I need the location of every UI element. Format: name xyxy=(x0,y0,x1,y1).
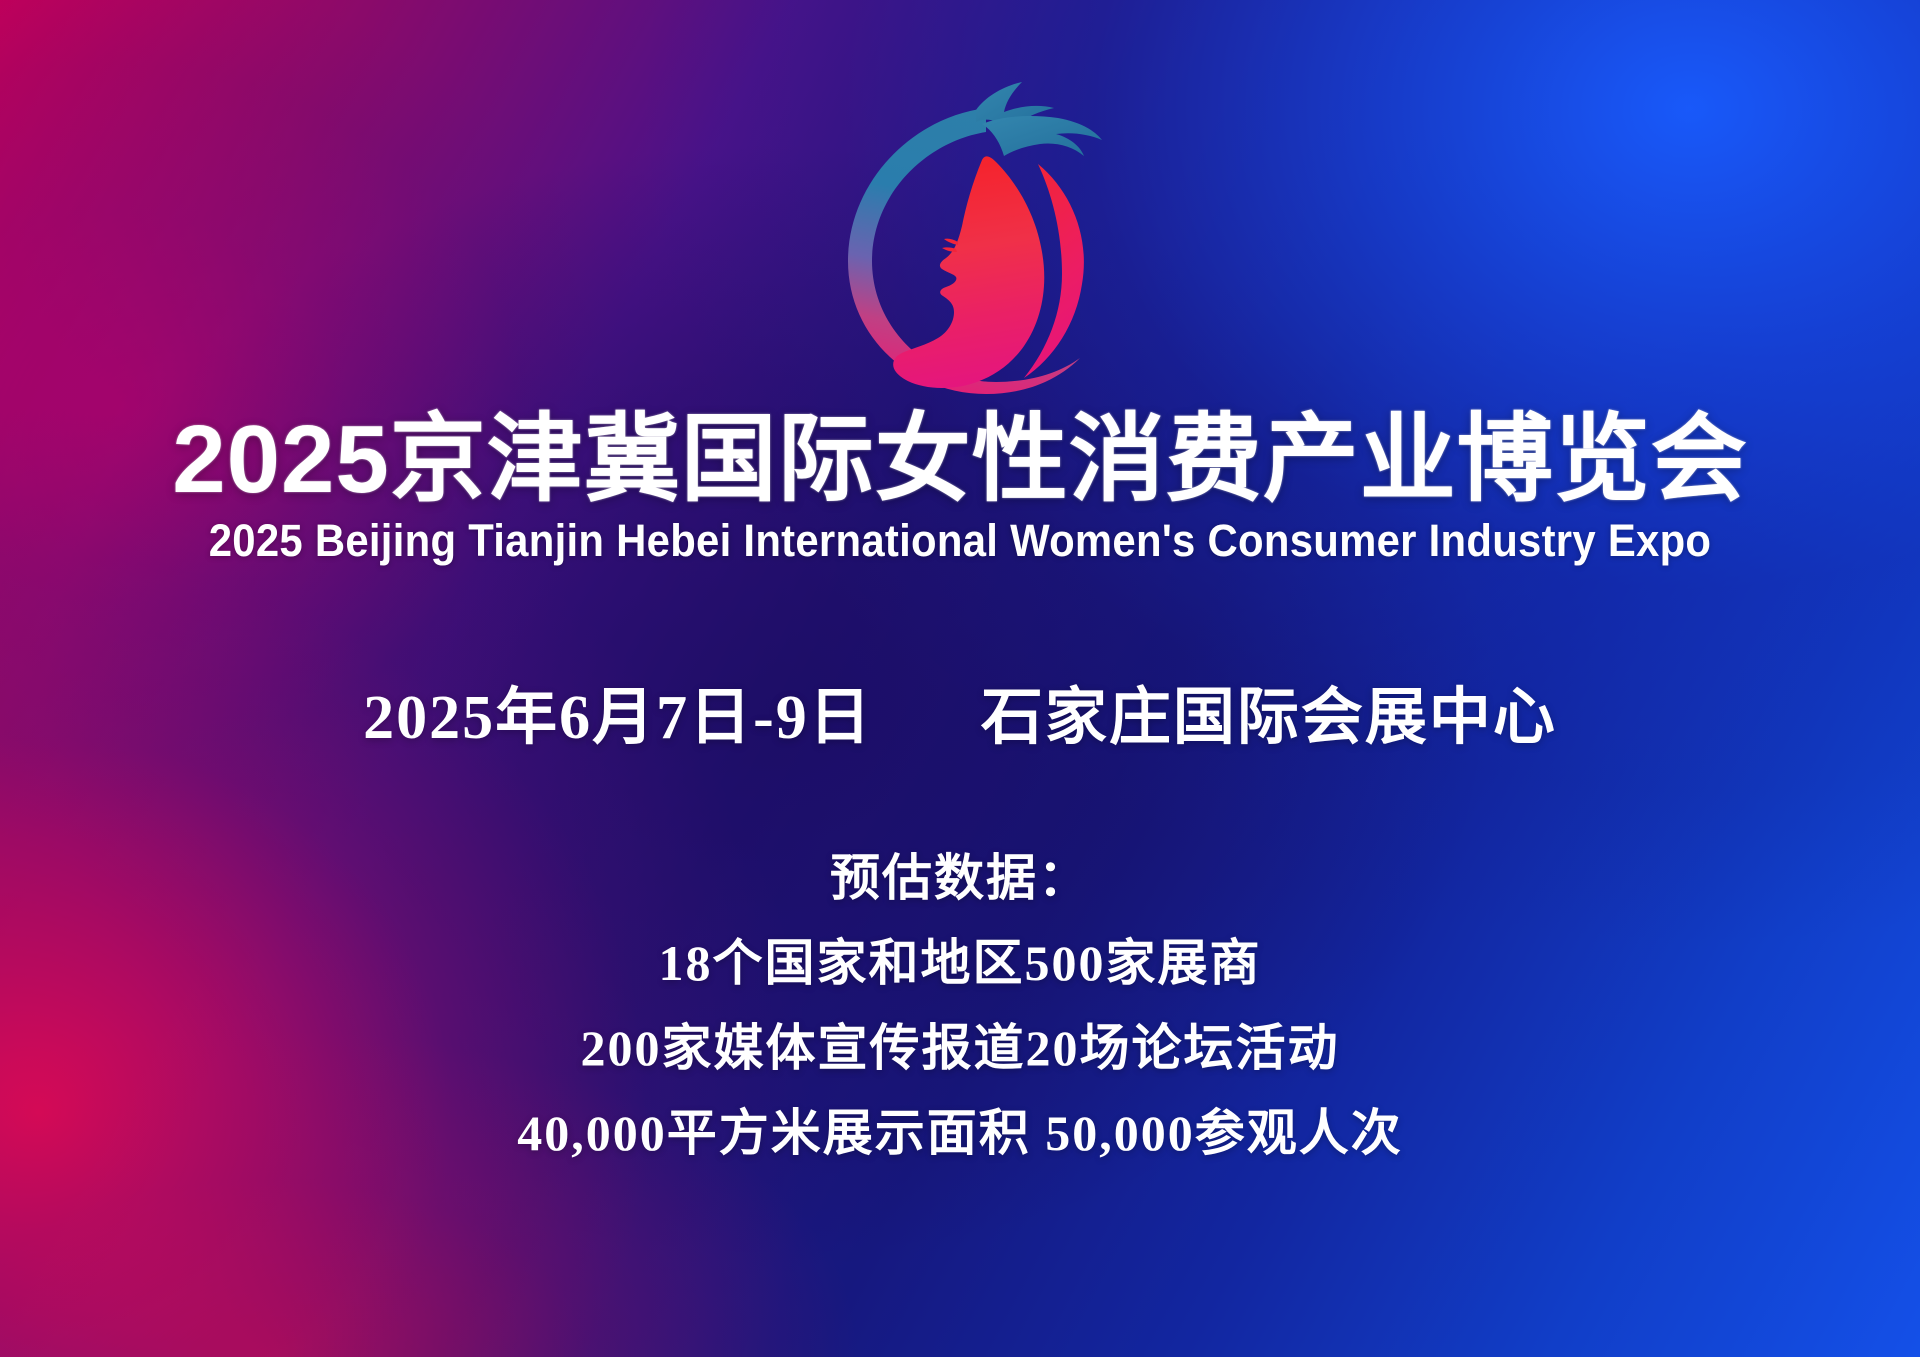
stat-line-media-forums: 200家媒体宣传报道20场论坛活动 xyxy=(0,1023,1920,1073)
stat-line-exhibitors: 18个国家和地区500家展商 xyxy=(0,938,1920,988)
page-title-english: 2025 Beijing Tianjin Hebei International… xyxy=(67,515,1853,567)
event-date: 2025年6月7日-9日 xyxy=(363,687,873,749)
title-block: 2025京津冀国际女性消费产业博览会 2025 Beijing Tianjin … xyxy=(0,411,1920,567)
logo-woman-profile xyxy=(893,156,1044,388)
expo-logo xyxy=(790,56,1130,401)
estimated-data-heading: 预估数据： xyxy=(0,853,1920,903)
logo-eyelash-upper xyxy=(944,239,958,245)
logo-dragon-snout xyxy=(982,116,1102,156)
event-venue: 石家庄国际会展中心 xyxy=(981,687,1557,749)
stat-line-area-visitors: 40,000平方米展示面积 50,000参观人次 xyxy=(0,1108,1920,1158)
poster-content: 2025京津冀国际女性消费产业博览会 2025 Beijing Tianjin … xyxy=(0,0,1920,1357)
estimated-data-block: 预估数据： 18个国家和地区500家展商 200家媒体宣传报道20场论坛活动 4… xyxy=(0,853,1920,1158)
page-title-chinese: 2025京津冀国际女性消费产业博览会 xyxy=(0,411,1920,509)
expo-poster: 2025京津冀国际女性消费产业博览会 2025 Beijing Tianjin … xyxy=(0,0,1920,1357)
event-meta-row: 2025年6月7日-9日 石家庄国际会展中心 xyxy=(0,687,1920,749)
